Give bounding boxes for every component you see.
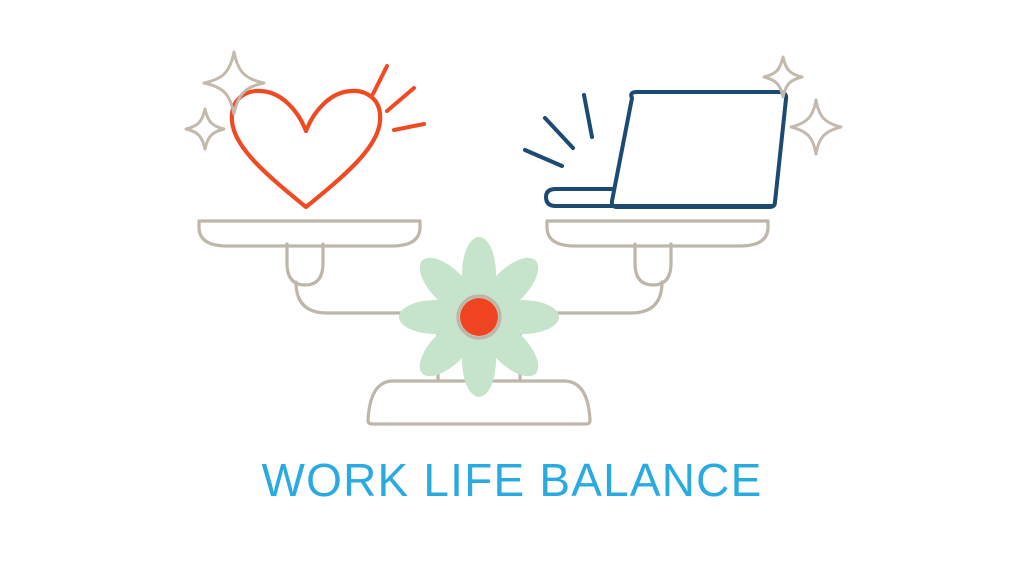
laptop-shine-lines	[525, 95, 592, 166]
laptop-shine-line	[525, 150, 562, 166]
flower-accent	[399, 237, 559, 397]
heart-shine-line	[394, 124, 424, 130]
right-pan	[547, 221, 768, 246]
heart-shine-line	[387, 88, 414, 111]
work-life-balance-illustration: WORK LIFE BALANCE	[0, 0, 1024, 576]
laptop-shine-line	[584, 95, 592, 137]
caption-work-life-balance: WORK LIFE BALANCE	[262, 454, 763, 506]
heart-group	[232, 66, 424, 207]
sparkle-right-large-icon	[791, 100, 841, 154]
sparkle-left-small-icon	[186, 109, 224, 149]
flower-center-dot	[460, 298, 498, 336]
left-pan	[199, 221, 420, 246]
scene-canvas: WORK LIFE BALANCE	[0, 0, 1024, 576]
laptop-screen	[612, 92, 786, 207]
sparkle-group	[186, 52, 841, 154]
heart-outline	[232, 91, 380, 207]
right-hanger	[635, 244, 671, 285]
heart-shine-line	[373, 66, 387, 94]
laptop-group	[525, 92, 786, 207]
laptop-base	[546, 189, 771, 206]
laptop-shine-line	[545, 118, 573, 148]
left-hanger	[287, 244, 323, 285]
